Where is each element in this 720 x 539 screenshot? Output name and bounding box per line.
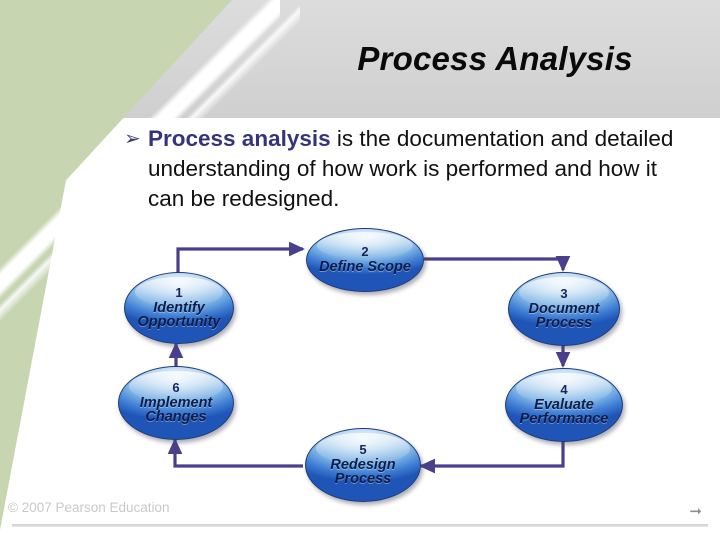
process-node-2-define-scope[interactable]: 2 Define Scope <box>306 228 424 292</box>
node-label: Define Scope <box>315 260 415 275</box>
footer-divider <box>12 524 708 527</box>
body-content: ➢ Process analysis is the documentation … <box>124 124 690 214</box>
node-number: 2 <box>361 245 368 259</box>
edge-1-to-2 <box>178 249 303 276</box>
copyright-footer: © 2007 Pearson Education <box>8 500 170 515</box>
node-label: Identify Opportunity <box>125 301 233 331</box>
process-node-1-identify-opportunity[interactable]: 1 Identify Opportunity <box>124 272 234 344</box>
node-label: Implement Changes <box>119 396 233 426</box>
bullet-item: ➢ Process analysis is the documentation … <box>124 124 690 214</box>
node-number: 6 <box>172 381 179 395</box>
bullet-text: Process analysis is the documentation an… <box>148 124 690 214</box>
node-number: 4 <box>560 383 567 397</box>
node-number: 3 <box>560 287 567 301</box>
node-label: Evaluate Performance <box>506 398 622 428</box>
arrow-right-icon[interactable]: ➞ <box>676 505 702 519</box>
edge-2-to-3 <box>424 259 563 270</box>
node-number: 5 <box>359 443 366 457</box>
process-node-3-document-process[interactable]: 3 Document Process <box>508 272 620 346</box>
process-node-4-evaluate-performance[interactable]: 4 Evaluate Performance <box>505 368 623 442</box>
node-number: 1 <box>175 286 182 300</box>
node-label: Redesign Process <box>306 458 420 488</box>
edge-5-to-6 <box>175 440 303 466</box>
process-node-6-implement-changes[interactable]: 6 Implement Changes <box>118 366 234 440</box>
edge-4-to-5 <box>421 440 563 466</box>
bullet-arrow-icon: ➢ <box>124 124 148 154</box>
process-node-5-redesign-process[interactable]: 5 Redesign Process <box>305 428 421 502</box>
node-label: Document Process <box>509 302 619 332</box>
bullet-lead-term: Process analysis <box>148 126 331 151</box>
page-title: Process Analysis <box>300 40 690 78</box>
slide-canvas: Process Analysis ➢ Process analysis is t… <box>0 0 720 539</box>
